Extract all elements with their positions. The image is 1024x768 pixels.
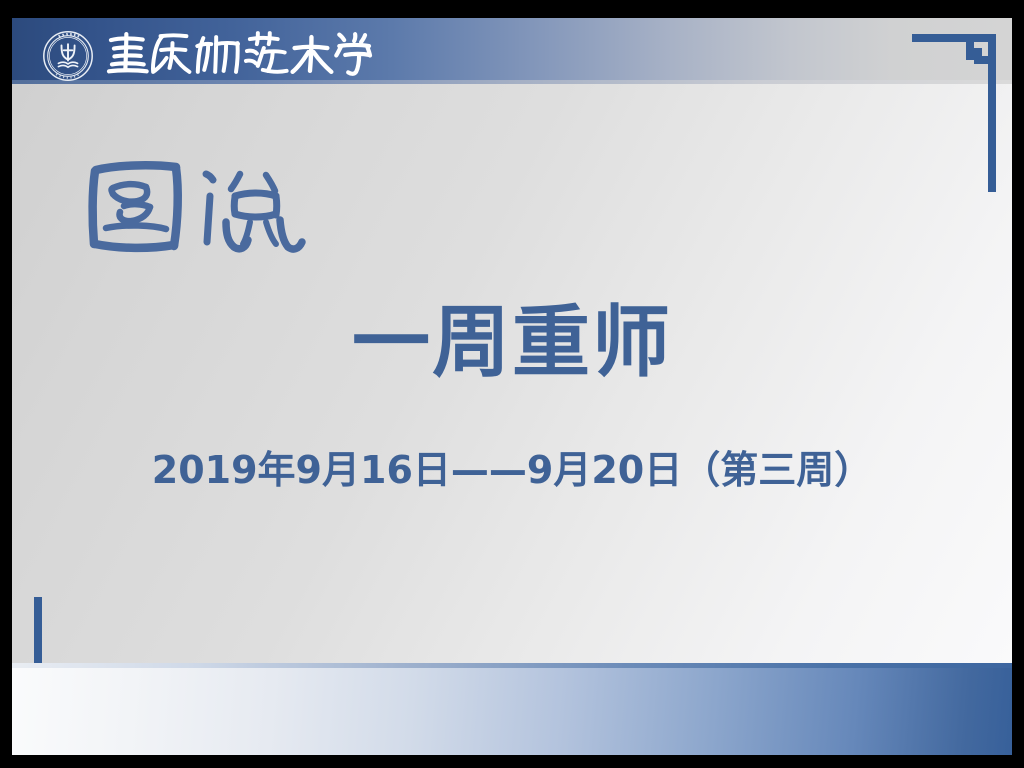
brush-title: [80, 154, 340, 269]
page-title: 一周重师: [12, 304, 1012, 382]
university-name: [105, 27, 373, 79]
university-seal-icon: [42, 30, 94, 82]
slide-canvas: 一周重师 2019年9月16日——9月20日（第三周）: [12, 18, 1012, 755]
slide-frame: 一周重师 2019年9月16日——9月20日（第三周）: [0, 0, 1024, 768]
date-subtitle: 2019年9月16日——9月20日（第三周）: [12, 448, 1012, 494]
corner-ornament-top-right-icon: [908, 26, 1008, 204]
footer-band: [12, 668, 1012, 755]
header-underline: [12, 80, 1012, 84]
